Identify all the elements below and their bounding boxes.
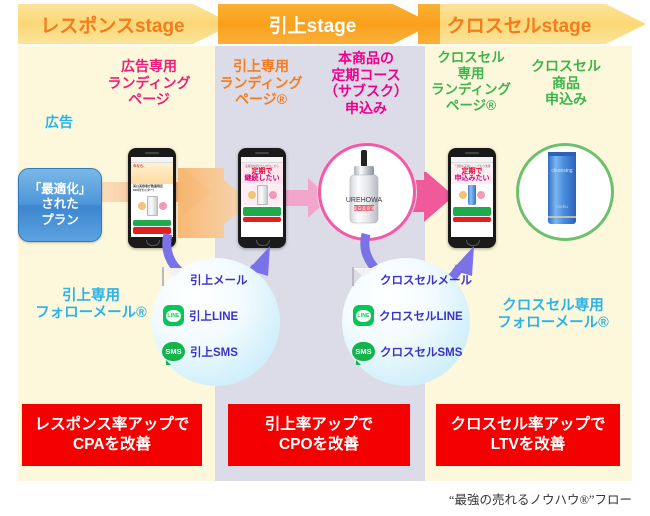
channel-label: 引上LINE bbox=[189, 308, 238, 324]
optimized-plan-box: 「最適化」 された プラン bbox=[18, 168, 102, 242]
phone-screen: 美容液を続けたい方はこちら 定期で 継続したい bbox=[241, 157, 283, 237]
lp-thumb bbox=[459, 191, 467, 199]
heading-subscription: 本商品の 定期コース （サブスク） 申込み bbox=[314, 50, 418, 116]
lp-cta-primary[interactable] bbox=[243, 207, 281, 216]
serum-brand-text: UREHOWA bbox=[346, 197, 383, 204]
lp-headline-1: 定期で bbox=[451, 168, 493, 175]
channel-label: 引上SMS bbox=[190, 344, 238, 360]
footer-caption: “最強の売れるノウハウ®”フロー bbox=[449, 489, 632, 508]
phone-speaker bbox=[145, 152, 159, 154]
mail-icon bbox=[162, 268, 185, 291]
channel-label: クロスセルLINE bbox=[379, 308, 463, 324]
product-circle-serum: UREHOWA 美白美容液 bbox=[318, 143, 416, 241]
result-line-2: LTVを改善 bbox=[491, 435, 566, 455]
channel-row-crosssell-line[interactable]: LINE クロスセルLINE bbox=[353, 305, 463, 326]
lp-cta-secondary[interactable] bbox=[243, 217, 281, 222]
follow-mail-title-crosssell: クロスセル専用 フォローメール® bbox=[478, 298, 628, 332]
result-line-1: レスポンス率アップで bbox=[35, 415, 190, 435]
stage-banner-uplift: 引上stage bbox=[218, 4, 433, 44]
mail-icon bbox=[352, 268, 375, 291]
lp-thumb bbox=[248, 191, 256, 199]
banner-notch bbox=[418, 4, 440, 44]
serum-bottle-icon: UREHOWA 美白美容液 bbox=[321, 146, 407, 232]
serum-sub-text: 美白美容液 bbox=[353, 205, 376, 212]
lp-product-row bbox=[241, 184, 283, 206]
lp-product-row bbox=[131, 194, 173, 219]
channel-row-uplift-line[interactable]: LINE 引上LINE bbox=[163, 305, 238, 326]
tube-brand-text: cleansing bbox=[551, 168, 572, 174]
channel-label: クロスセルSMS bbox=[380, 344, 462, 360]
sms-icon: SMS bbox=[352, 342, 375, 361]
lp-cta-primary[interactable] bbox=[133, 220, 171, 226]
funnel-diagram: レスポンスstage 引上stage クロスセルstage 広告 広告専用 ラン… bbox=[0, 0, 650, 516]
lp-product-bottle bbox=[147, 196, 158, 216]
lp-headline-2: 継続したい bbox=[241, 175, 283, 182]
phone-speaker bbox=[255, 152, 269, 154]
phone-screen: 「洗顔も美白に」こだわり洗顔 定期で 申込みたい bbox=[451, 157, 493, 237]
result-line-1: 引上率アップで bbox=[265, 415, 374, 435]
channel-row-crosssell-sms[interactable]: SMS クロスセルSMS bbox=[352, 342, 462, 361]
channel-label: クロスセルメール bbox=[380, 272, 472, 288]
plan-line-3: プラン bbox=[41, 213, 79, 229]
line-icon-label: LINE bbox=[356, 310, 371, 322]
result-line-2: CPAを改善 bbox=[73, 435, 151, 455]
channel-row-uplift-mail[interactable]: 引上メール bbox=[162, 268, 248, 291]
lp-product-row bbox=[451, 184, 493, 206]
lp-cta-primary[interactable] bbox=[453, 207, 491, 216]
heading-ad-landing-page: 広告専用 ランディング ページ bbox=[100, 58, 198, 108]
result-line-2: CPOを改善 bbox=[279, 435, 359, 455]
tube-sub-text: urehu bbox=[556, 204, 568, 209]
phone-speaker bbox=[465, 152, 479, 154]
heading-crosssell-product: クロスセル 商品 申込み bbox=[518, 58, 614, 108]
line-icon: LINE bbox=[353, 305, 374, 326]
heading-crosssell-landing-page: クロスセル 専用 ランディング ページ® bbox=[424, 50, 518, 114]
channel-label: 引上メール bbox=[190, 272, 248, 288]
lp-product-tube bbox=[468, 185, 476, 205]
lp-thumb bbox=[269, 191, 277, 199]
lp-thumb bbox=[138, 202, 146, 210]
line-icon-label: LINE bbox=[166, 310, 181, 322]
line-icon: LINE bbox=[163, 305, 184, 326]
product-circle-tube: cleansing urehu bbox=[516, 143, 614, 241]
lp-headline-1: 定期で bbox=[241, 168, 283, 175]
lp-product-bottle bbox=[257, 185, 268, 205]
stage-label-uplift: 引上stage bbox=[269, 11, 357, 38]
plan-line-2: された bbox=[41, 197, 79, 213]
lp-thumb bbox=[477, 191, 485, 199]
plan-line-1: 「最適化」 bbox=[29, 182, 92, 198]
heading-uplift-landing-page: 引上専用 ランディング ページ® bbox=[212, 58, 310, 108]
stage-banner-response: レスポンスstage bbox=[18, 4, 233, 44]
stage-label-crosssell: クロスセルstage bbox=[447, 11, 592, 38]
lp-thumb bbox=[159, 202, 167, 210]
phone-screen: 今なら、 美白美容液が数量限定 500円モニター！ bbox=[131, 157, 173, 237]
lp-headline: 今なら、 bbox=[131, 163, 173, 169]
stage-label-response: レスポンスstage bbox=[40, 11, 184, 38]
lp-cta-secondary[interactable] bbox=[453, 217, 491, 222]
channel-row-uplift-sms[interactable]: SMS 引上SMS bbox=[162, 342, 238, 361]
follow-mail-title-uplift: 引上専用 フォローメール® bbox=[28, 288, 154, 322]
stage-banner-crosssell: クロスセルstage bbox=[418, 4, 646, 44]
lp-hero: 美容液を続けたい方はこちら 定期で 継続したい bbox=[241, 163, 283, 184]
cleansing-tube-icon: cleansing urehu bbox=[519, 146, 605, 232]
result-box-response: レスポンス率アップで CPAを改善 bbox=[22, 404, 202, 466]
sms-icon: SMS bbox=[162, 342, 185, 361]
heading-ad: 広告 bbox=[22, 114, 96, 131]
result-box-uplift: 引上率アップで CPOを改善 bbox=[228, 404, 410, 466]
lp-hero: 今なら、 bbox=[131, 163, 173, 184]
channel-row-crosssell-mail[interactable]: クロスセルメール bbox=[352, 268, 472, 291]
result-box-crosssell: クロスセル率アップで LTVを改善 bbox=[436, 404, 620, 466]
banner-notch bbox=[218, 4, 240, 44]
lp-subtext: 美白美容液が数量限定 500円モニター！ bbox=[131, 184, 173, 194]
result-line-1: クロスセル率アップで bbox=[450, 415, 605, 435]
lp-hero: 「洗顔も美白に」こだわり洗顔 定期で 申込みたい bbox=[451, 163, 493, 184]
lp-headline-2: 申込みたい bbox=[451, 175, 493, 182]
